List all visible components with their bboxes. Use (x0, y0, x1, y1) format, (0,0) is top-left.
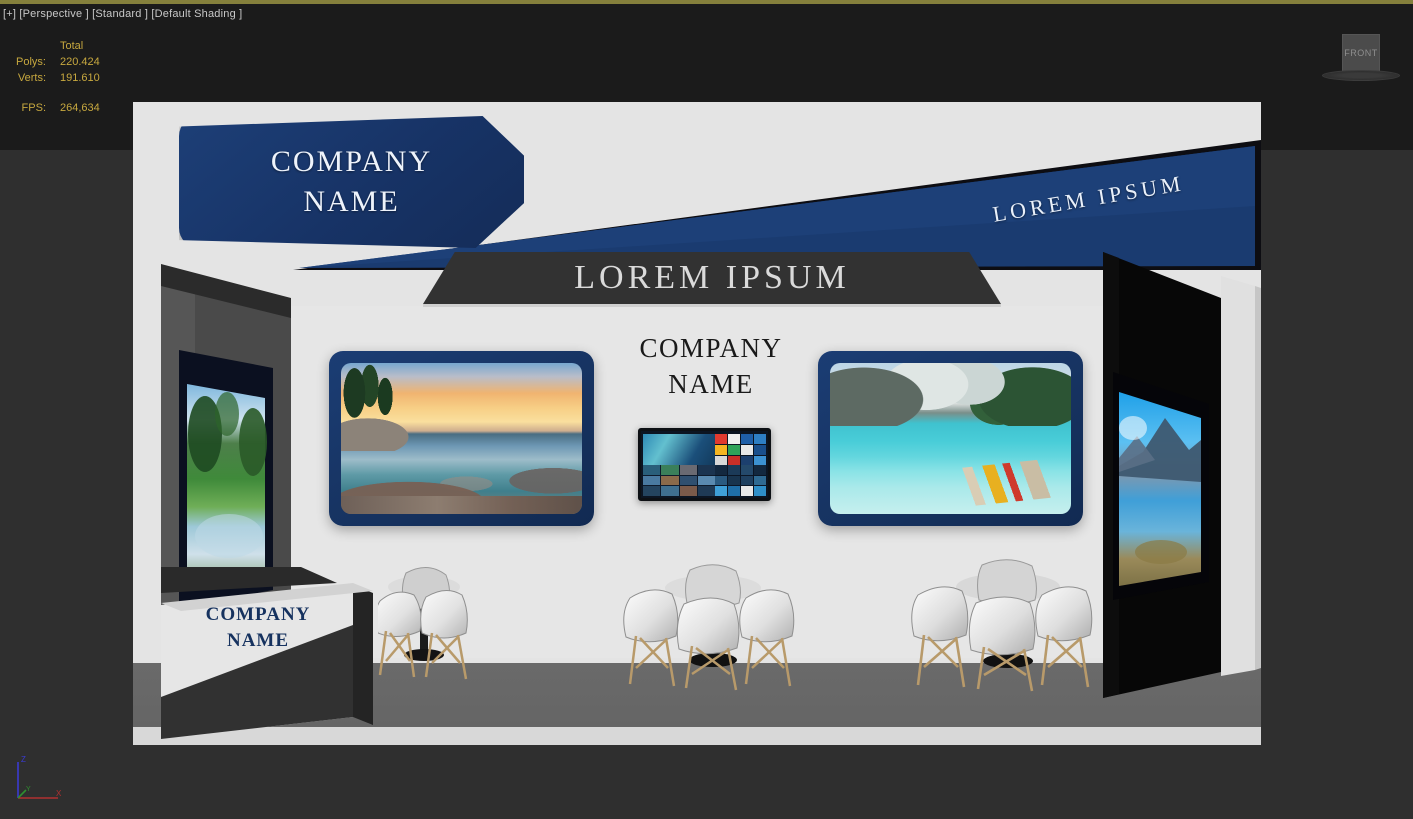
stats-column-header: Total (52, 38, 106, 54)
stats-polys-label: Polys: (8, 54, 52, 70)
monitor-bottom-right-grid (715, 465, 766, 496)
dark-header-label: LOREM IPSUM (574, 259, 849, 297)
sunset-lake-photo (341, 363, 582, 514)
right-side-wall (1103, 252, 1261, 698)
stats-fps-value: 264,634 (52, 100, 106, 116)
axis-x-label: X (56, 789, 62, 798)
lounge-group-left (378, 557, 508, 687)
axis-tripod: Z X Y (10, 750, 70, 805)
booth-3d-model: LOREM IPSUM COMPANY NAME LOREM IPSUM COM… (133, 102, 1261, 745)
view-cube-face-front[interactable]: FRONT (1342, 34, 1380, 72)
view-cube-compass-ring[interactable] (1322, 70, 1400, 81)
monitor-bottom-left-grid (643, 465, 715, 496)
monitor-hero-tile (643, 434, 715, 466)
axis-y-label: Y (26, 786, 31, 793)
reception-desk-line1: COMPANY (178, 602, 338, 628)
reception-desk-line2: NAME (178, 628, 338, 654)
reception-desk (161, 567, 381, 745)
stats-polys-value: 220.424 (52, 54, 106, 70)
hero-company-panel-text: COMPANY NAME (271, 142, 432, 222)
moraine-lake-canoes-photo (830, 363, 1071, 514)
viewport-label[interactable]: [+] [Perspective ] [Standard ] [Default … (3, 8, 242, 20)
hero-company-panel: COMPANY NAME (179, 116, 524, 248)
viewport-3d[interactable]: [+] [Perspective ] [Standard ] [Default … (0, 0, 1413, 819)
stats-fps-label: FPS: (8, 100, 52, 116)
stats-verts-label: Verts: (8, 70, 52, 86)
left-frame (329, 351, 594, 526)
view-cube-label: FRONT (1344, 48, 1378, 58)
monitor-right-tile-grid (715, 434, 766, 466)
hero-company-line2: NAME (271, 182, 432, 222)
dark-header-underline (423, 304, 1001, 307)
statistics-overlay: Total Polys: 220.424 Verts: 191.610 FPS:… (8, 38, 106, 116)
stats-verts-value: 191.610 (52, 70, 106, 86)
stats-row-fps: FPS: 264,634 (8, 100, 106, 116)
view-cube[interactable]: FRONT (1318, 30, 1404, 86)
lounge-group-right (908, 557, 1108, 692)
stats-row-verts: Verts: 191.610 (8, 70, 106, 86)
center-monitor (638, 428, 771, 501)
reception-desk-label: COMPANY NAME (178, 602, 338, 654)
dark-header-band: LOREM IPSUM (423, 252, 1001, 304)
smart-tv-dashboard-ui (641, 431, 768, 498)
axis-z-label: Z (21, 755, 26, 764)
stats-row-polys: Polys: 220.424 (8, 54, 106, 70)
right-frame (818, 351, 1083, 526)
hero-company-line1: COMPANY (271, 142, 432, 182)
lounge-group-center (618, 562, 808, 692)
